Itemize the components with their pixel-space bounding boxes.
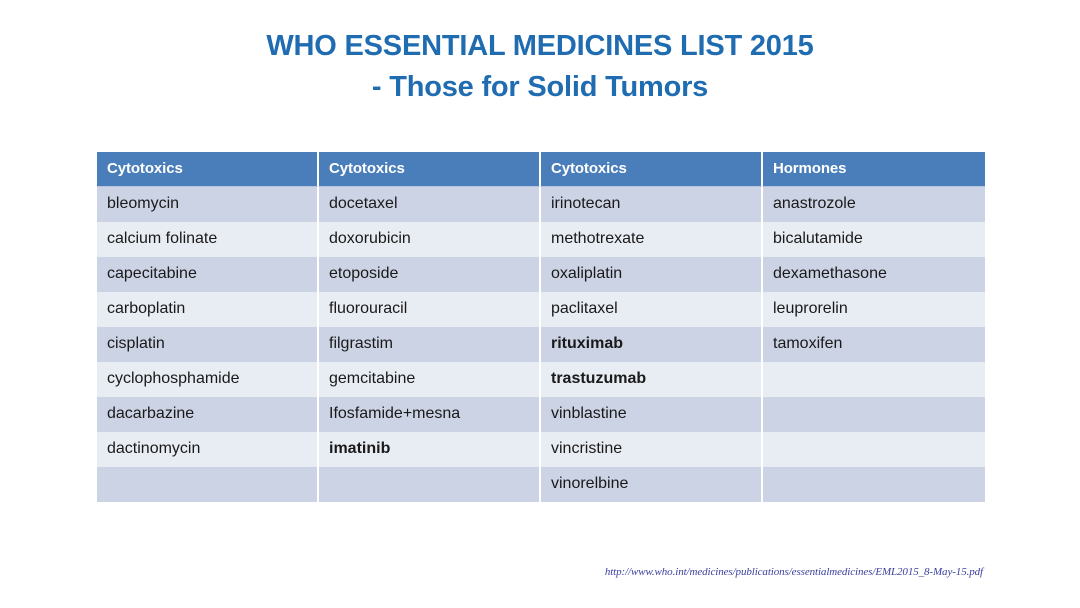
medicine-cell: irinotecan — [541, 187, 763, 222]
medicine-cell: oxaliplatin — [541, 257, 763, 292]
table-row: dactinomycinimatinibvincristine — [97, 432, 985, 467]
medicine-cell: cyclophosphamide — [97, 362, 319, 397]
medicine-cell: fluorouracil — [319, 292, 541, 327]
medicine-cell: calcium folinate — [97, 222, 319, 257]
medicine-cell: vinorelbine — [541, 467, 763, 502]
column-header-4: Hormones — [763, 152, 985, 187]
medicine-cell: Ifosfamide+mesna — [319, 397, 541, 432]
page-title: WHO ESSENTIAL MEDICINES LIST 2015 - Thos… — [0, 26, 1080, 108]
medicine-cell: methotrexate — [541, 222, 763, 257]
source-url-link[interactable]: http://www.who.int/medicines/publication… — [0, 566, 1080, 578]
medicine-cell: vinblastine — [541, 397, 763, 432]
empty-cell — [97, 467, 319, 502]
medicine-cell: capecitabine — [97, 257, 319, 292]
table-row: vinorelbine — [97, 467, 985, 502]
medicine-cell: leuprorelin — [763, 292, 985, 327]
medicine-cell: carboplatin — [97, 292, 319, 327]
table-row: cisplatinfilgrastimrituximabtamoxifen — [97, 327, 985, 362]
table-row: capecitabineetoposideoxaliplatindexameth… — [97, 257, 985, 292]
medicine-cell: dexamethasone — [763, 257, 985, 292]
medicine-cell: paclitaxel — [541, 292, 763, 327]
page-title-line-2: - Those for Solid Tumors — [0, 67, 1080, 108]
table-row: carboplatinfluorouracilpaclitaxelleupror… — [97, 292, 985, 327]
table-row: bleomycindocetaxelirinotecananastrozole — [97, 187, 985, 222]
column-header-1: Cytotoxics — [97, 152, 319, 187]
medicine-cell: bleomycin — [97, 187, 319, 222]
medicine-cell: gemcitabine — [319, 362, 541, 397]
table-row: dacarbazineIfosfamide+mesnavinblastine — [97, 397, 985, 432]
table-row: cyclophosphamidegemcitabinetrastuzumab — [97, 362, 985, 397]
medicine-cell: dactinomycin — [97, 432, 319, 467]
medicine-cell: cisplatin — [97, 327, 319, 362]
empty-cell — [763, 397, 985, 432]
table-header-row: Cytotoxics Cytotoxics Cytotoxics Hormone… — [97, 152, 985, 187]
table-header: Cytotoxics Cytotoxics Cytotoxics Hormone… — [97, 152, 985, 187]
empty-cell — [763, 432, 985, 467]
table-row: calcium folinatedoxorubicinmethotrexateb… — [97, 222, 985, 257]
medicine-cell: doxorubicin — [319, 222, 541, 257]
empty-cell — [763, 362, 985, 397]
medicine-cell: etoposide — [319, 257, 541, 292]
essential-medicines-table: Cytotoxics Cytotoxics Cytotoxics Hormone… — [97, 152, 985, 502]
medicine-cell: anastrozole — [763, 187, 985, 222]
empty-cell — [319, 467, 541, 502]
medicine-cell: vincristine — [541, 432, 763, 467]
medicine-cell: trastuzumab — [541, 362, 763, 397]
medicine-cell: dacarbazine — [97, 397, 319, 432]
column-header-2: Cytotoxics — [319, 152, 541, 187]
medicine-cell: docetaxel — [319, 187, 541, 222]
column-header-3: Cytotoxics — [541, 152, 763, 187]
table-body: bleomycindocetaxelirinotecananastrozolec… — [97, 187, 985, 502]
medicine-cell: rituximab — [541, 327, 763, 362]
medicine-cell: imatinib — [319, 432, 541, 467]
empty-cell — [763, 467, 985, 502]
page-title-line-1: WHO ESSENTIAL MEDICINES LIST 2015 — [0, 26, 1080, 67]
medicine-cell: filgrastim — [319, 327, 541, 362]
medicine-cell: bicalutamide — [763, 222, 985, 257]
medicine-cell: tamoxifen — [763, 327, 985, 362]
